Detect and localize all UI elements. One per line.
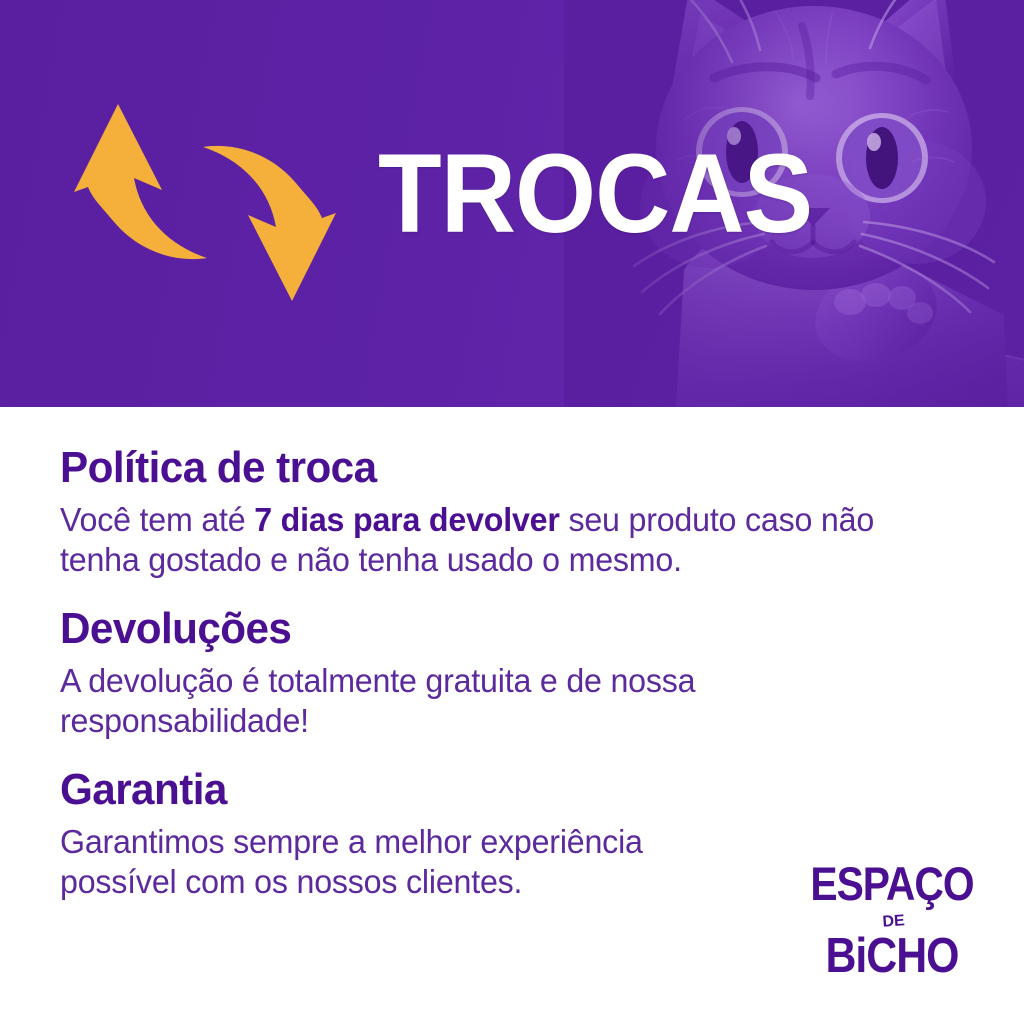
section-devolucoes: Devoluções A devolução é totalmente grat…	[60, 606, 964, 741]
section-title: Garantia	[60, 767, 928, 814]
body-prefix: Você tem até	[60, 501, 254, 538]
body-emphasis: 7 dias para devolver	[254, 501, 560, 538]
brand-line-1: ESPAÇO	[810, 862, 973, 910]
brand-line-3: BiCHO	[826, 928, 959, 982]
swap-arrows-icon	[55, 95, 355, 310]
brand-logo-espaco-de-bicho: ESPAÇO DE BiCHO	[802, 862, 982, 982]
section-politica-de-troca: Política de troca Você tem até 7 dias pa…	[60, 445, 964, 580]
banner-title: TROCAS	[378, 138, 812, 250]
section-title: Política de troca	[60, 445, 928, 492]
promo-card: TROCAS Política de troca Você tem até 7 …	[0, 0, 1024, 1024]
section-body: A devolução é totalmente gratuita e de n…	[60, 661, 941, 742]
section-body: Você tem até 7 dias para devolver seu pr…	[60, 500, 941, 581]
banner-header: TROCAS	[0, 0, 1024, 407]
section-body: Garantimos sempre a melhor experiência p…	[60, 822, 762, 903]
section-title: Devoluções	[60, 606, 928, 653]
